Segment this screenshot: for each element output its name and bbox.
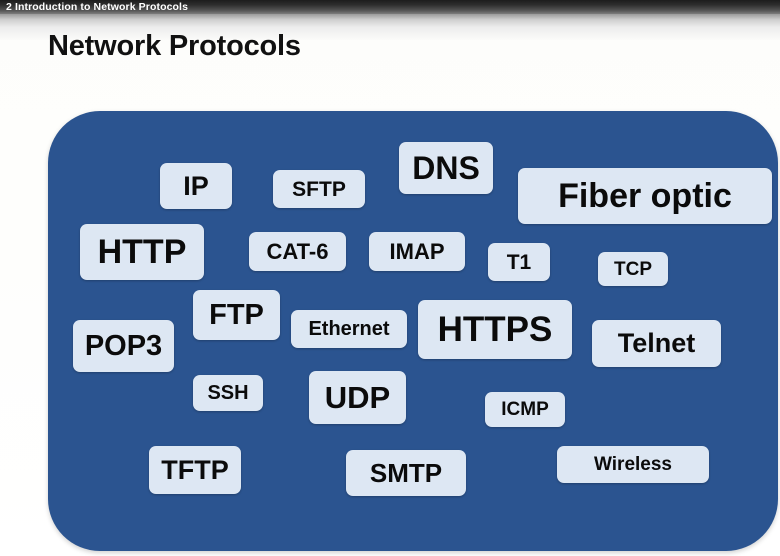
protocol-tag[interactable]: ICMP [485, 392, 565, 427]
protocol-tag[interactable]: CAT-6 [249, 232, 346, 271]
protocol-tag[interactable]: DNS [399, 142, 493, 194]
protocol-tag[interactable]: SFTP [273, 170, 365, 208]
protocol-tag[interactable]: FTP [193, 290, 280, 340]
protocol-tag[interactable]: IP [160, 163, 232, 209]
protocol-tag[interactable]: IMAP [369, 232, 465, 271]
protocol-tag[interactable]: TFTP [149, 446, 241, 494]
protocol-tag[interactable]: Ethernet [291, 310, 407, 348]
protocol-tag[interactable]: TCP [598, 252, 668, 286]
window-titlebar[interactable]: 2 Introduction to Network Protocols [0, 0, 780, 14]
protocol-tag[interactable]: Telnet [592, 320, 721, 367]
presentation-slide: 2 Introduction to Network Protocols Netw… [0, 0, 780, 556]
protocol-tag[interactable]: POP3 [73, 320, 174, 372]
protocol-tag[interactable]: Wireless [557, 446, 709, 483]
page-title: Network Protocols [48, 30, 301, 63]
protocol-tag[interactable]: Fiber optic [518, 168, 772, 224]
protocol-tag[interactable]: UDP [309, 371, 406, 424]
protocol-tag[interactable]: HTTPS [418, 300, 572, 359]
protocol-tag[interactable]: T1 [488, 243, 550, 281]
protocol-tag[interactable]: SMTP [346, 450, 466, 496]
window-title-text: 2 Introduction to Network Protocols [6, 0, 188, 14]
protocol-tag[interactable]: HTTP [80, 224, 204, 280]
protocol-tag[interactable]: SSH [193, 375, 263, 411]
